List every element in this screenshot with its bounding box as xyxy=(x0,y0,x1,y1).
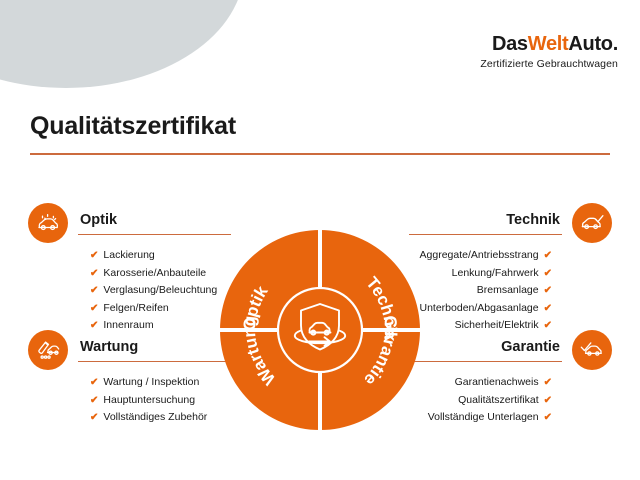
list-item-label: Karosserie/Anbauteile xyxy=(103,267,206,279)
list-item-label: Felgen/Reifen xyxy=(103,302,168,314)
section-technik-title: Technik xyxy=(506,212,560,228)
check-icon: ✔ xyxy=(544,285,552,296)
section-wartung-title: Wartung xyxy=(80,339,138,355)
decorative-gray-blob xyxy=(0,0,244,88)
check-icon: ✔ xyxy=(90,377,98,388)
section-garantie-divider xyxy=(409,361,562,362)
page-title: Qualitätszertifikat xyxy=(30,112,236,141)
list-item-label: Verglasung/Beleuchtung xyxy=(103,284,217,296)
brand-tagline: Zertifizierte Gebrauchtwagen xyxy=(480,59,618,70)
certificate-page: DasWeltAuto. Zertifizierte Gebrauchtwage… xyxy=(0,0,640,480)
list-item-label: Wartung / Inspektion xyxy=(103,376,199,388)
list-item-label: Vollständige Unterlagen xyxy=(428,411,539,423)
list-item-label: Vollständiges Zubehör xyxy=(103,411,207,423)
list-item-label: Garantienachweis xyxy=(455,376,539,388)
check-icon: ✔ xyxy=(90,303,98,314)
check-icon: ✔ xyxy=(90,285,98,296)
brand-logo-auto: Auto. xyxy=(568,33,618,55)
list-item-label: Hauptuntersuchung xyxy=(103,394,195,406)
central-donut-diagram: Optik Technik Wartung Garantie xyxy=(217,227,423,433)
list-item-label: Lenkung/Fahrwerk xyxy=(452,267,539,279)
section-garantie-title: Garantie xyxy=(501,339,560,355)
list-item-label: Qualitätszertifikat xyxy=(458,394,539,406)
list-item-label: Unterboden/Abgasanlage xyxy=(420,302,539,314)
check-icon: ✔ xyxy=(544,412,552,423)
car-check-icon xyxy=(572,203,612,243)
check-icon: ✔ xyxy=(544,377,552,388)
brand-logo-welt: Welt xyxy=(528,33,569,55)
check-icon: ✔ xyxy=(544,250,552,261)
list-item-label: Lackierung xyxy=(103,249,154,261)
section-optik-divider xyxy=(78,234,231,235)
check-icon: ✔ xyxy=(90,250,98,261)
brand-logo-das: Das xyxy=(492,33,528,55)
section-wartung-divider xyxy=(78,361,231,362)
check-icon: ✔ xyxy=(544,395,552,406)
section-technik-divider xyxy=(409,234,562,235)
check-icon: ✔ xyxy=(90,412,98,423)
check-icon: ✔ xyxy=(544,303,552,314)
title-divider xyxy=(30,153,610,155)
car-wrench-icon xyxy=(28,330,68,370)
brand-logo: DasWeltAuto. Zertifizierte Gebrauchtwage… xyxy=(480,34,618,70)
check-icon: ✔ xyxy=(544,268,552,279)
check-icon: ✔ xyxy=(90,395,98,406)
brand-logo-wordmark: DasWeltAuto. xyxy=(480,34,618,54)
car-sparkle-icon xyxy=(28,203,68,243)
list-item-label: Aggregate/Antriebsstrang xyxy=(420,249,539,261)
list-item-label: Bremsanlage xyxy=(477,284,539,296)
section-optik-title: Optik xyxy=(80,212,117,228)
check-icon: ✔ xyxy=(90,268,98,279)
car-shield-check-icon xyxy=(572,330,612,370)
